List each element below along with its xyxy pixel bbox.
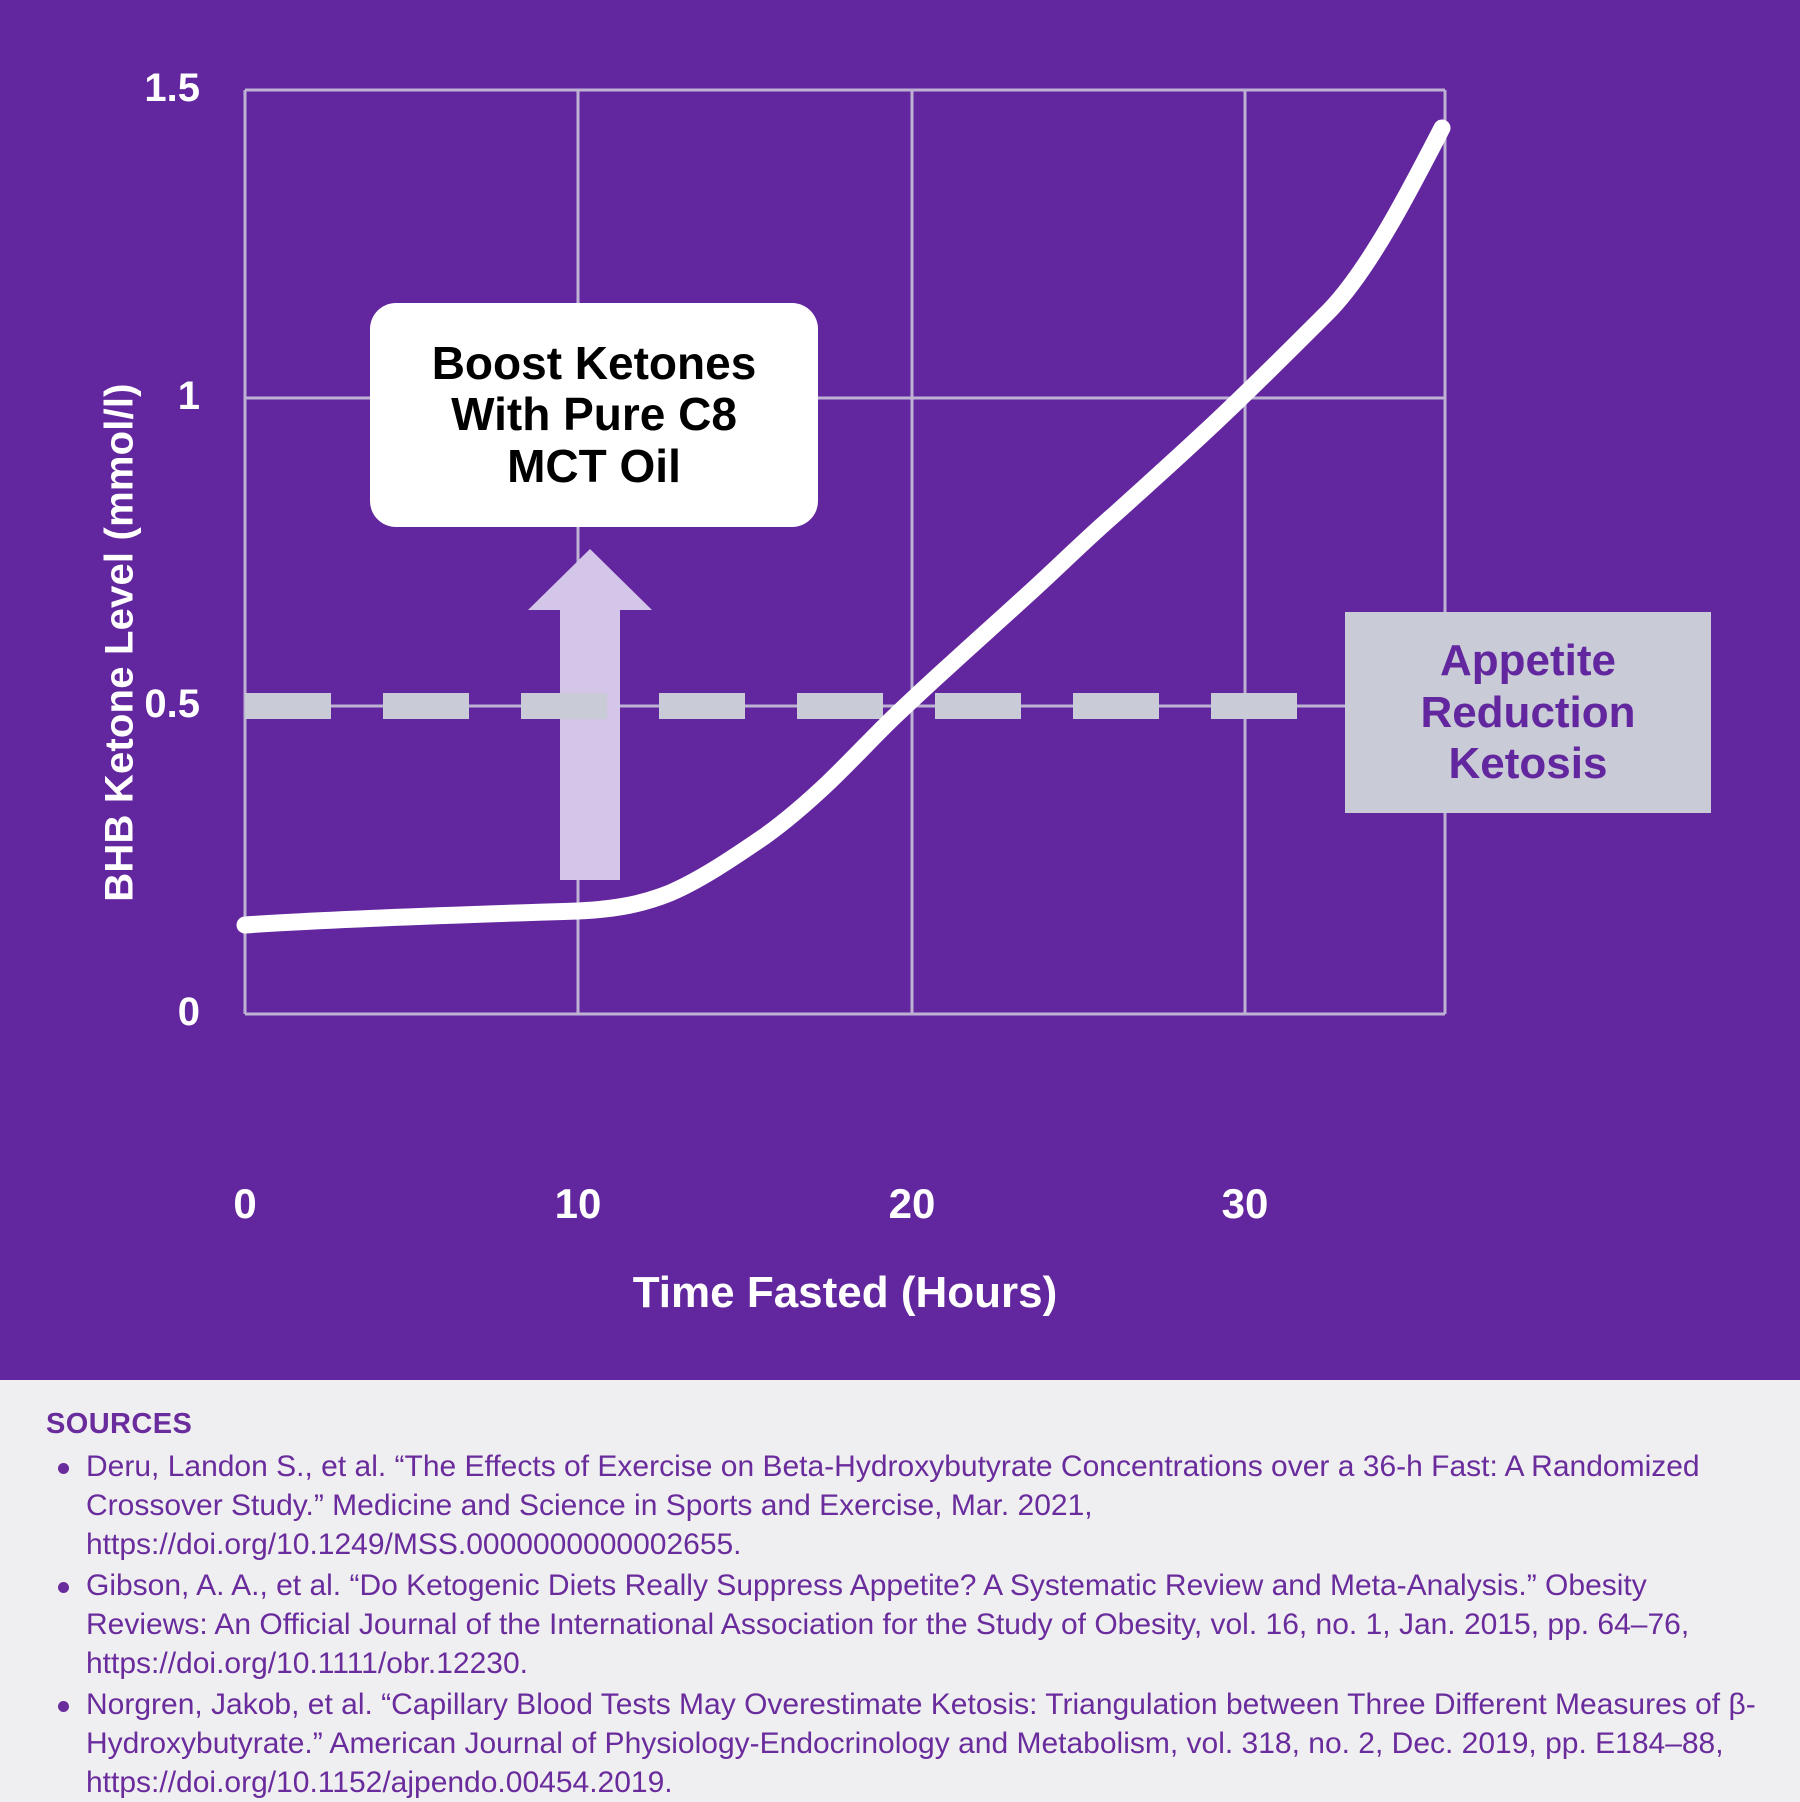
boost-ketones-callout: Boost Ketones With Pure C8 MCT Oil [370, 303, 818, 527]
appetite-reduction-box-text: Appetite Reduction Ketosis [1420, 635, 1635, 791]
source-text: Norgren, Jakob, et al. “Capillary Blood … [86, 1688, 1756, 1799]
source-item: Deru, Landon S., et al. “The Effects of … [44, 1447, 1756, 1564]
x-tick-20: 20 [852, 1180, 972, 1228]
bullet-icon [58, 1582, 69, 1593]
bullet-icon [58, 1463, 69, 1474]
y-tick-1-5: 1.5 [60, 66, 200, 111]
appetite-reduction-box: Appetite Reduction Ketosis [1345, 612, 1711, 813]
y-axis-label: BHB Ketone Level (mmol/l) [98, 363, 143, 923]
y-tick-0: 0 [60, 990, 200, 1035]
source-item: Norgren, Jakob, et al. “Capillary Blood … [44, 1685, 1756, 1802]
x-tick-10: 10 [518, 1180, 638, 1228]
infographic-root: 1.5 1 0.5 0 0 10 20 30 BHB Ketone Level … [0, 0, 1800, 1800]
sources-list: Deru, Landon S., et al. “The Effects of … [44, 1447, 1756, 1802]
bullet-icon [58, 1701, 69, 1712]
source-text: Gibson, A. A., et al. “Do Ketogenic Diet… [86, 1569, 1689, 1680]
source-item: Gibson, A. A., et al. “Do Ketogenic Diet… [44, 1566, 1756, 1683]
sources-section: SOURCES Deru, Landon S., et al. “The Eff… [0, 1380, 1800, 1800]
chart-panel: 1.5 1 0.5 0 0 10 20 30 BHB Ketone Level … [0, 0, 1800, 1380]
x-tick-0: 0 [185, 1180, 305, 1228]
boost-ketones-callout-text: Boost Ketones With Pure C8 MCT Oil [432, 338, 757, 493]
x-axis-label: Time Fasted (Hours) [245, 1268, 1445, 1318]
grid-lines [245, 90, 1445, 1014]
x-tick-30: 30 [1185, 1180, 1305, 1228]
sources-title: SOURCES [46, 1408, 1756, 1441]
source-text: Deru, Landon S., et al. “The Effects of … [86, 1450, 1700, 1561]
